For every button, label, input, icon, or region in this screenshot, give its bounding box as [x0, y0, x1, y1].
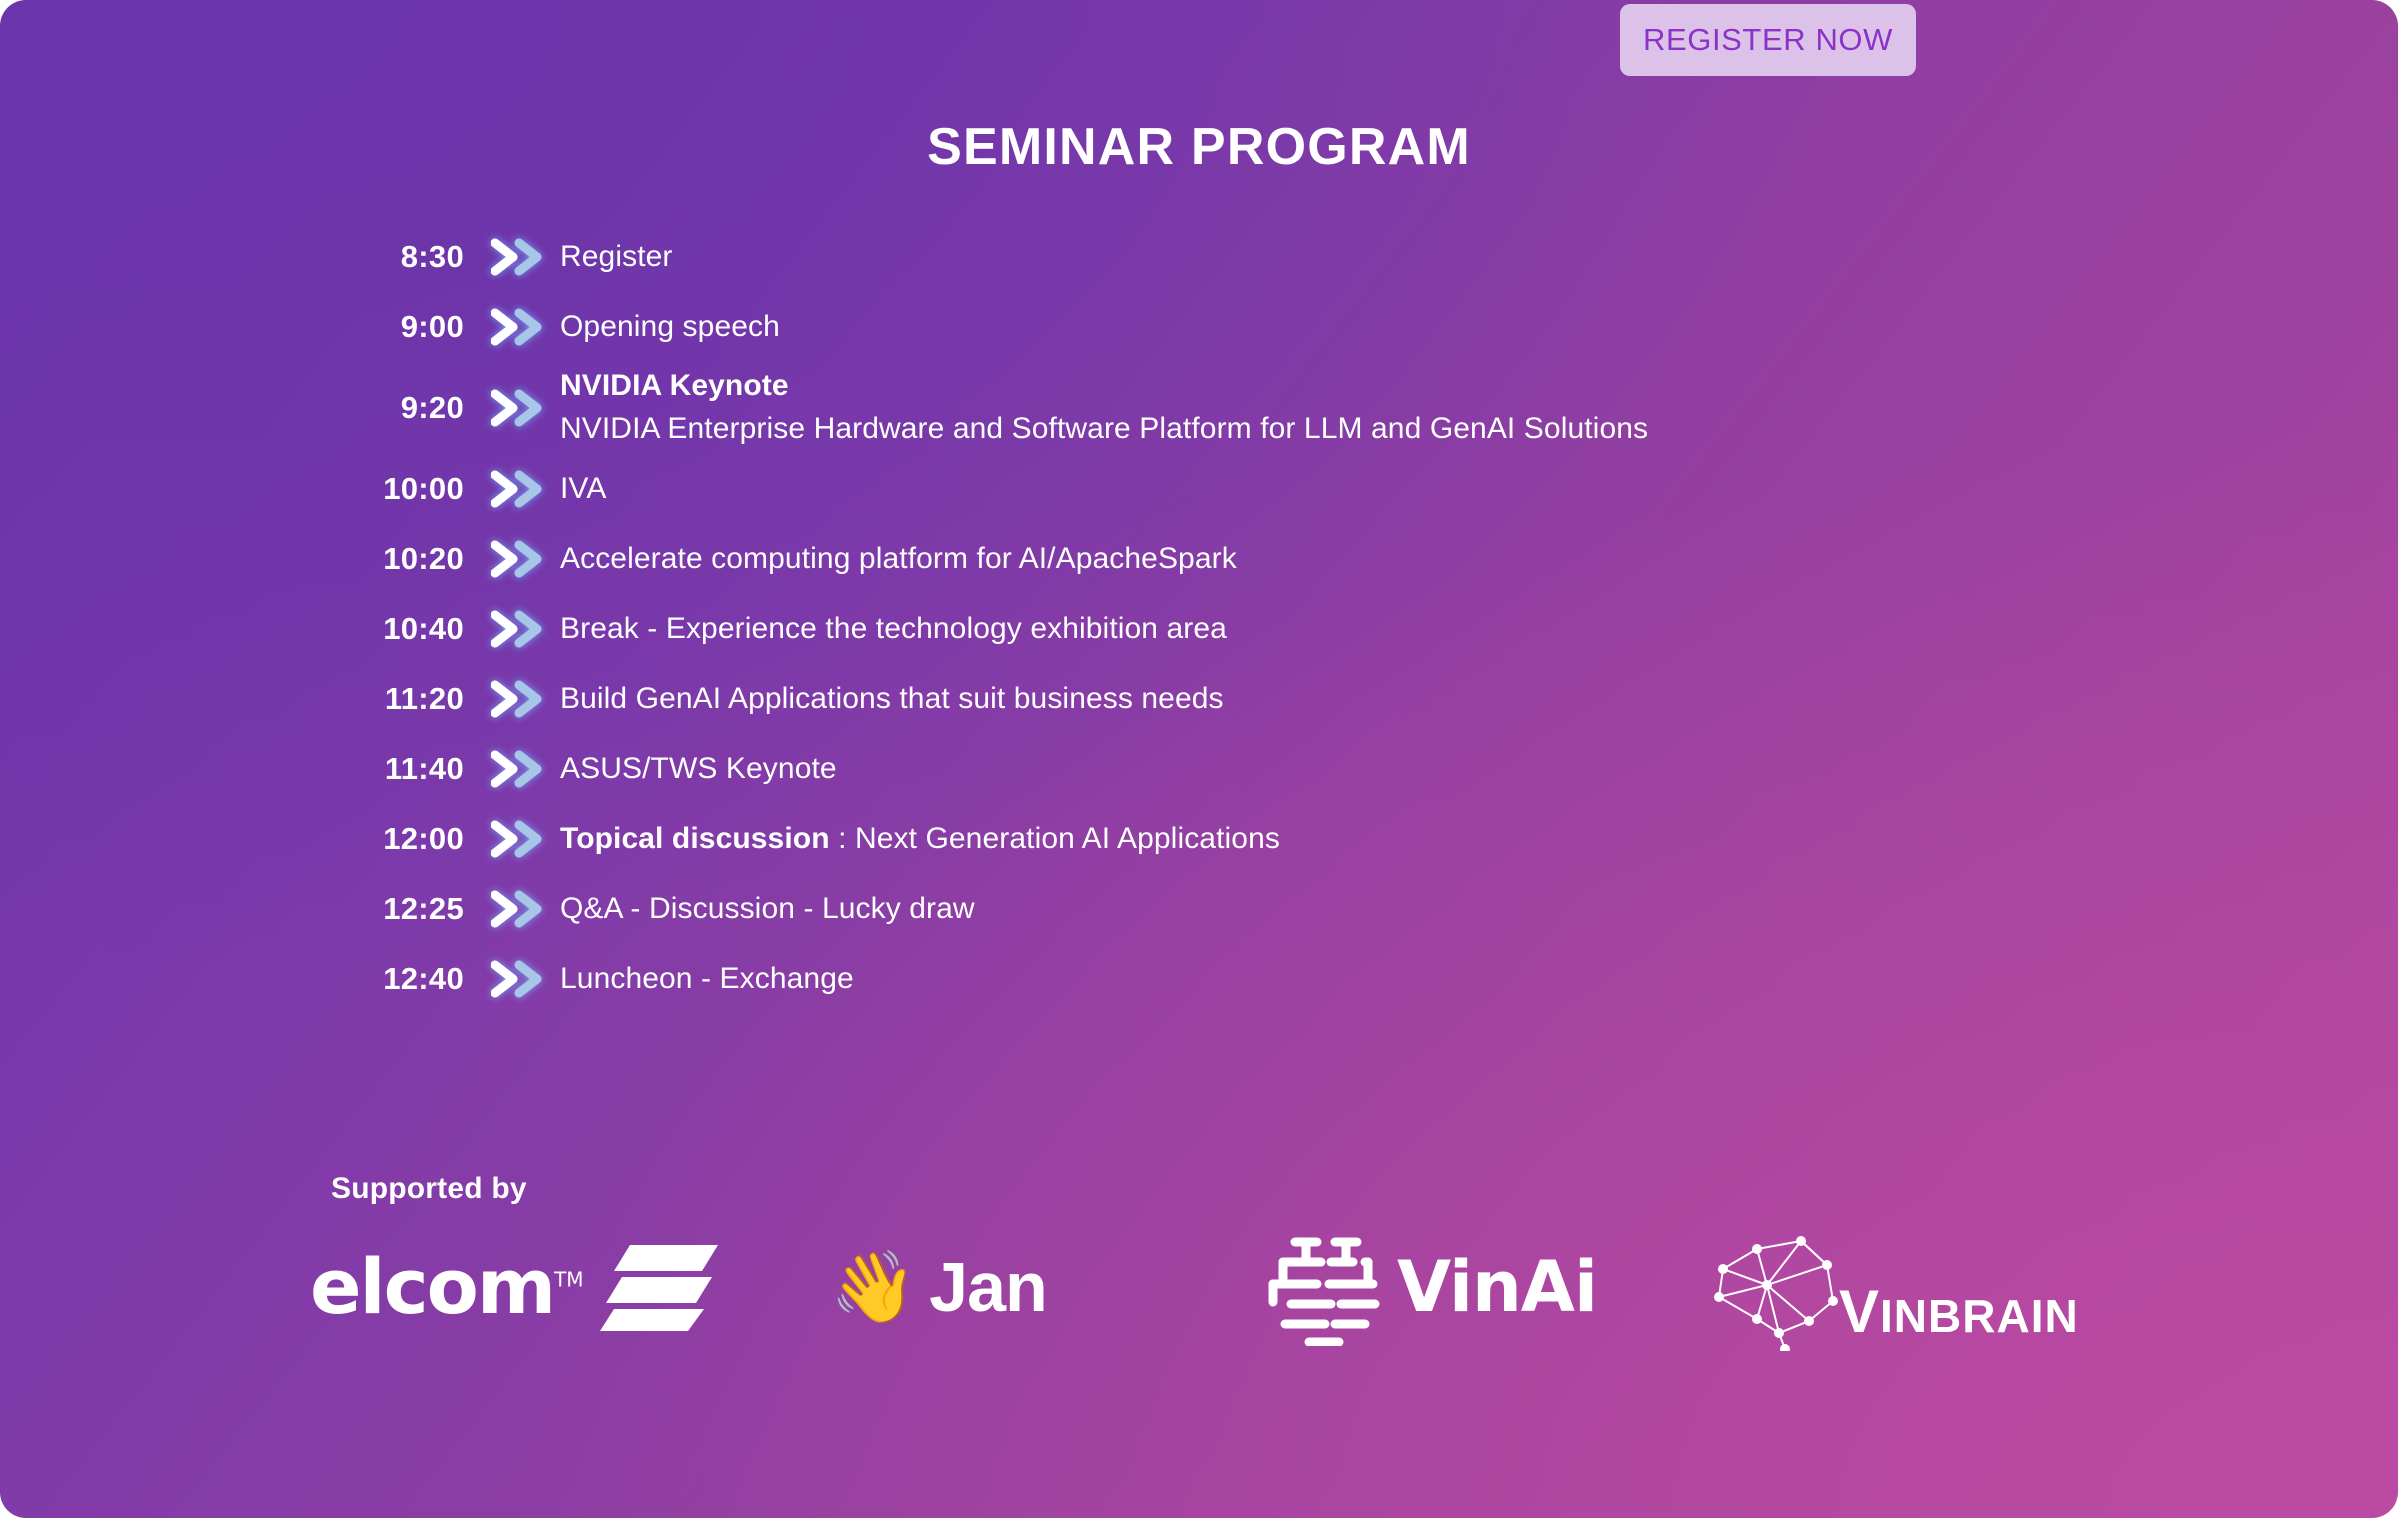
- double-chevron-right-icon: [464, 469, 560, 509]
- sponsor-logo-vinai: VinAi: [1265, 1222, 1597, 1352]
- schedule-row: 11:40 ASUS/TWS Keynote: [332, 734, 2032, 804]
- schedule-row: 8:30 Register: [332, 222, 2032, 292]
- schedule-description: Break - Experience the technology exhibi…: [560, 608, 2032, 651]
- vinai-circuit-icon: [1265, 1228, 1383, 1346]
- double-chevron-right-icon: [464, 959, 560, 999]
- schedule-description-text: Build GenAI Applications that suit busin…: [560, 682, 1224, 715]
- page-title: SEMINAR PROGRAM: [0, 117, 2398, 177]
- sponsor-logo-vinbrain: VINBRAIN: [1705, 1222, 2079, 1352]
- vinbrain-wordmark: VINBRAIN: [1839, 1282, 2079, 1342]
- schedule-time: 11:20: [332, 681, 464, 717]
- schedule-description: Luncheon - Exchange: [560, 958, 2032, 1001]
- schedule-description-text: ASUS/TWS Keynote: [560, 752, 837, 785]
- schedule-time: 11:40: [332, 751, 464, 787]
- schedule-description: IVA: [560, 468, 2032, 511]
- schedule-description: ASUS/TWS Keynote: [560, 748, 2032, 791]
- schedule-row: 10:40 Break - Experience the technology …: [332, 594, 2032, 664]
- vinbrain-network-icon: [1705, 1223, 1855, 1351]
- schedule-description-text: Q&A - Discussion - Lucky draw: [560, 892, 975, 925]
- seminar-program-slide: REGISTER NOW SEMINAR PROGRAM 8:30 Regist…: [0, 0, 2398, 1518]
- schedule-row: 9:20 NVIDIA KeynoteNVIDIA Enterprise Har…: [332, 362, 2032, 454]
- schedule-time: 8:30: [332, 239, 464, 275]
- schedule-time: 10:40: [332, 611, 464, 647]
- schedule-time: 9:00: [332, 309, 464, 345]
- schedule-description: Topical discussion : Next Generation AI …: [560, 818, 2032, 861]
- schedule-time: 12:00: [332, 821, 464, 857]
- schedule-description: Q&A - Discussion - Lucky draw: [560, 888, 2032, 931]
- schedule-description-text: : Next Generation AI Applications: [830, 822, 1280, 855]
- schedule-row: 10:20 Accelerate computing platform for …: [332, 524, 2032, 594]
- double-chevron-right-icon: [464, 889, 560, 929]
- schedule-description: Register: [560, 236, 2032, 279]
- schedule-description-text: Opening speech: [560, 310, 780, 343]
- schedule-row: 11:20 Build GenAI Applications that suit…: [332, 664, 2032, 734]
- double-chevron-right-icon: [464, 539, 560, 579]
- schedule-time: 12:40: [332, 961, 464, 997]
- schedule-description-text: Luncheon - Exchange: [560, 962, 854, 995]
- double-chevron-right-icon: [464, 307, 560, 347]
- schedule-row: 12:00 Topical discussion : Next Generati…: [332, 804, 2032, 874]
- double-chevron-right-icon: [464, 388, 560, 428]
- schedule-description-text: IVA: [560, 472, 606, 505]
- elcom-e-mark-icon: [600, 1241, 720, 1333]
- schedule-time: 9:20: [332, 390, 464, 426]
- sponsor-logos: elcomTM 👋 Jan: [300, 1222, 2130, 1352]
- sponsor-logo-jan: 👋 Jan: [830, 1222, 1047, 1352]
- schedule-time: 10:00: [332, 471, 464, 507]
- sponsor-logo-elcom: elcomTM: [310, 1222, 720, 1352]
- double-chevron-right-icon: [464, 819, 560, 859]
- schedule-row: 9:00 Opening speech: [332, 292, 2032, 362]
- double-chevron-right-icon: [464, 749, 560, 789]
- schedule-description: Opening speech: [560, 306, 2032, 349]
- schedule-description: Build GenAI Applications that suit busin…: [560, 678, 2032, 721]
- schedule-description: NVIDIA KeynoteNVIDIA Enterprise Hardware…: [560, 365, 2032, 450]
- elcom-wordmark: elcomTM: [310, 1249, 584, 1325]
- waving-hand-icon: 👋: [830, 1252, 917, 1322]
- schedule-description-bold: Topical discussion: [560, 822, 830, 855]
- schedule-row: 10:00 IVA: [332, 454, 2032, 524]
- double-chevron-right-icon: [464, 679, 560, 719]
- schedule-description-subtitle: NVIDIA Enterprise Hardware and Software …: [560, 408, 2032, 451]
- supported-by-label: Supported by: [331, 1172, 527, 1206]
- jan-wordmark: Jan: [929, 1252, 1047, 1322]
- vinai-wordmark: VinAi: [1397, 1252, 1597, 1322]
- schedule-description-text: Break - Experience the technology exhibi…: [560, 612, 1227, 645]
- schedule-row: 12:40 Luncheon - Exchange: [332, 944, 2032, 1014]
- double-chevron-right-icon: [464, 237, 560, 277]
- schedule-list: 8:30 Register9:00 Opening speech9:20 NVI…: [332, 222, 2032, 1014]
- schedule-description-bold: NVIDIA Keynote: [560, 369, 789, 402]
- register-now-button[interactable]: REGISTER NOW: [1620, 4, 1916, 76]
- double-chevron-right-icon: [464, 609, 560, 649]
- schedule-description: Accelerate computing platform for AI/Apa…: [560, 538, 2032, 581]
- schedule-time: 12:25: [332, 891, 464, 927]
- schedule-description-text: Accelerate computing platform for AI/Apa…: [560, 542, 1237, 575]
- schedule-description-text: Register: [560, 240, 673, 273]
- schedule-time: 10:20: [332, 541, 464, 577]
- schedule-row: 12:25 Q&A - Discussion - Lucky draw: [332, 874, 2032, 944]
